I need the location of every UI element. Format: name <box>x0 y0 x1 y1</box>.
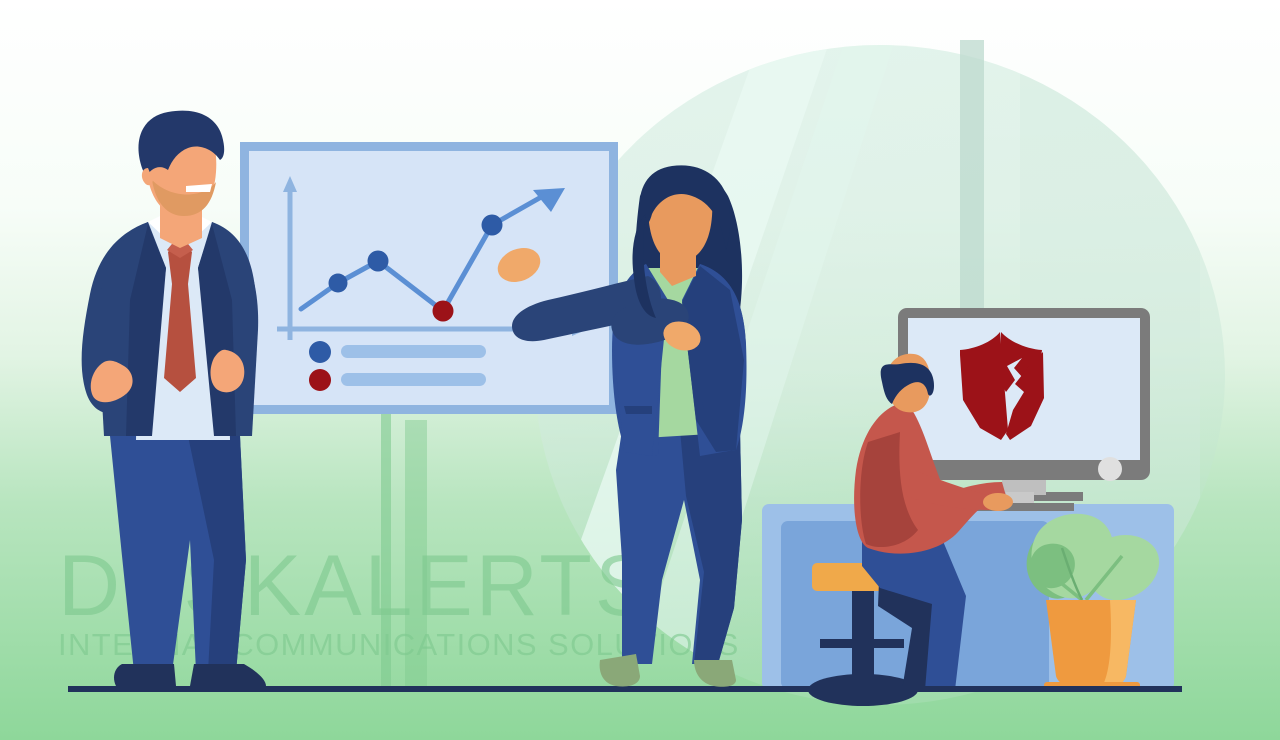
stool-footrest <box>820 639 904 648</box>
legend-swatch-series-1 <box>309 341 331 363</box>
presenter-blazer-pocket-left <box>624 406 652 414</box>
legend-bar-series-1 <box>341 345 486 358</box>
illustration-stage: DESKALERTS INTERNAL COMMUNICATIONS SOLUT… <box>0 0 1280 740</box>
chart-point-3 <box>482 215 503 236</box>
chart-point-breach <box>433 301 454 322</box>
legend-swatch-series-2 <box>309 369 331 391</box>
monitor-power-button[interactable] <box>1098 457 1122 481</box>
chart-point-2 <box>368 251 389 272</box>
whiteboard-stand <box>381 400 391 690</box>
businessman-shoe-left <box>114 664 176 686</box>
worker-hand <box>983 493 1013 511</box>
scene-svg: DESKALERTS INTERNAL COMMUNICATIONS SOLUT… <box>0 0 1280 740</box>
chart-point-1 <box>329 274 348 293</box>
stool-post <box>852 586 874 686</box>
floor-line <box>68 686 1182 692</box>
legend-bar-series-2 <box>341 373 486 386</box>
presenter-blazer-pocket-right <box>702 402 732 410</box>
